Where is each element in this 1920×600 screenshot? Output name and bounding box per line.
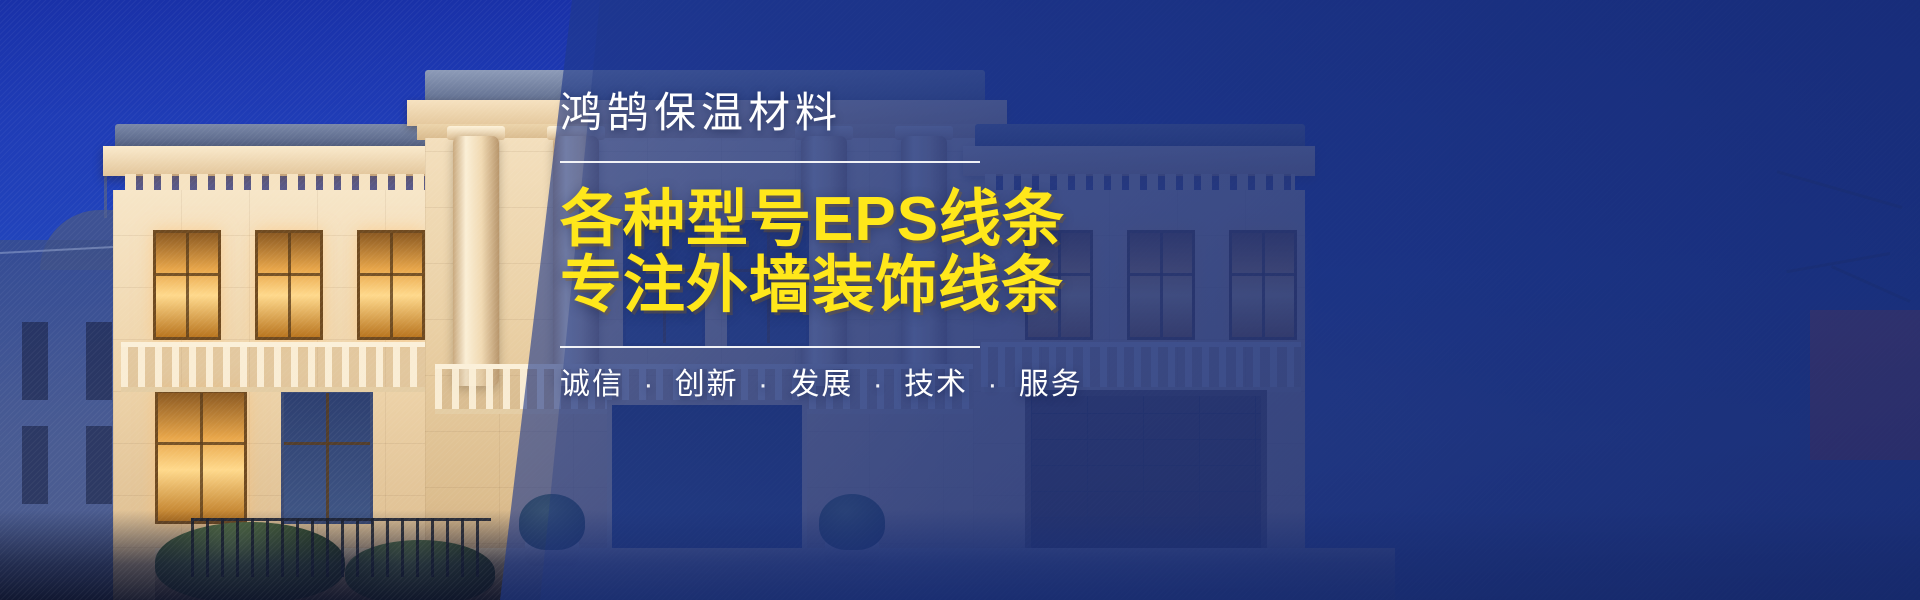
tagline-item: 诚信: [560, 368, 624, 401]
divider-top: [560, 161, 980, 163]
window-glow: [357, 230, 425, 340]
distant-window: [22, 426, 48, 504]
distant-window: [22, 322, 48, 400]
promo-banner: 鸿鹄保温材料 各种型号EPS线条 专注外墙装饰线条 诚信 · 创新 · 发展 ·…: [0, 0, 1920, 600]
tagline-item: 发展: [789, 368, 853, 401]
window-dark: [281, 390, 373, 524]
column: [453, 136, 499, 386]
divider-bottom: [560, 346, 980, 348]
balustrade: [121, 342, 429, 392]
window-glow: [153, 230, 221, 340]
left-wing-cornice: [103, 146, 443, 176]
tagline-separator-icon: ·: [864, 368, 894, 401]
tagline: 诚信 · 创新 · 发展 · 技术 · 服务: [560, 370, 1340, 400]
tagline-item: 服务: [1019, 368, 1083, 401]
window-glow: [255, 230, 323, 340]
tagline-item: 技术: [904, 368, 968, 401]
tagline-separator-icon: ·: [749, 368, 779, 401]
headline-line-2: 专注外墙装饰线条: [560, 253, 1340, 319]
window-glow: [155, 390, 247, 524]
tagline-item: 创新: [675, 368, 739, 401]
headline-line-1: 各种型号EPS线条: [560, 187, 1340, 253]
tagline-separator-icon: ·: [978, 368, 1008, 401]
banner-content: 鸿鹄保温材料 各种型号EPS线条 专注外墙装饰线条 诚信 · 创新 · 发展 ·…: [560, 92, 1340, 400]
tagline-separator-icon: ·: [634, 368, 664, 401]
headline-group: 各种型号EPS线条 专注外墙装饰线条: [560, 187, 1340, 320]
brand-name: 鸿鹄保温材料: [560, 92, 1340, 134]
